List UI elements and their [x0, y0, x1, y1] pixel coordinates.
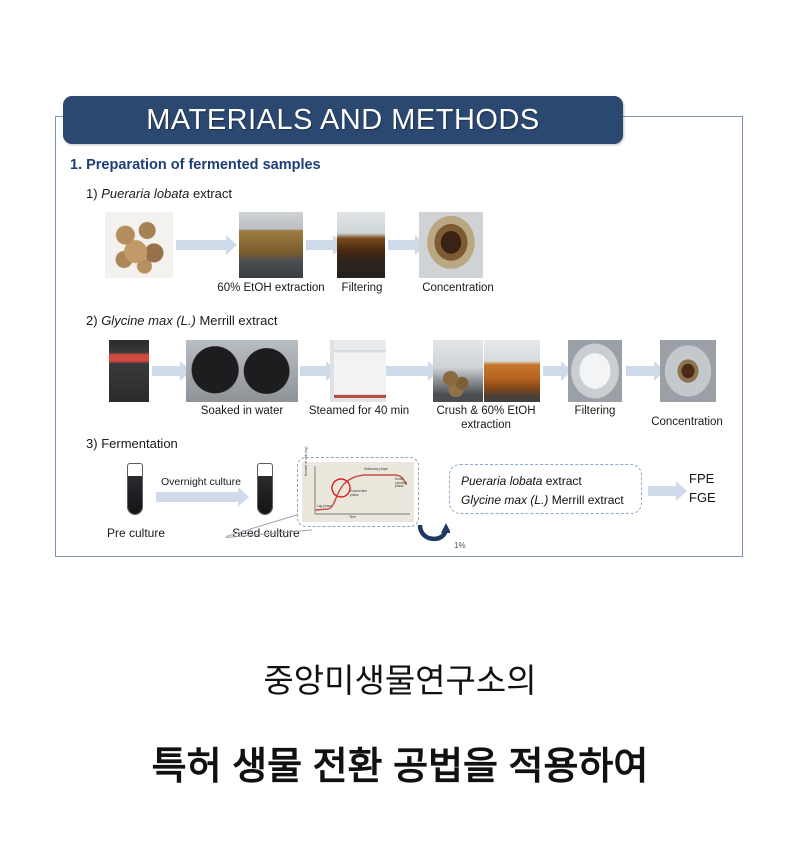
subsection-1-index: 1)	[86, 186, 98, 201]
extract-result-box: Pueraria lobata extract Glycine max (L.)…	[449, 464, 642, 514]
slide-banner: MATERIALS AND METHODS	[63, 96, 623, 144]
product-labels: FPE FGE	[689, 470, 716, 508]
caption-filtering-1: Filtering	[324, 281, 400, 295]
extract-2-italic: Glycine max (L.)	[461, 493, 548, 507]
photo-steamer-autoclave	[330, 340, 386, 402]
flow-arrow-2c	[386, 366, 428, 376]
photo-filtering-funnel	[337, 212, 385, 278]
test-tube-pre-culture	[127, 463, 143, 515]
flow-arrow-1a	[176, 240, 226, 250]
caption-line-2: 특허 생물 전환 공법을 적용하여	[0, 735, 800, 790]
photo-concentration-rotavap	[419, 212, 483, 278]
caption-filtering-2: Filtering	[563, 404, 627, 418]
section-heading: 1. Preparation of fermented samples	[70, 157, 321, 173]
flow-arrow-1c	[388, 240, 415, 250]
growth-curve-xlabel: Time	[349, 516, 356, 520]
product-fpe: FPE	[689, 470, 716, 489]
caption-line-1: 중앙미생물연구소의	[0, 654, 800, 702]
tube-liquid	[258, 476, 272, 514]
flow-arrow-overnight	[156, 492, 238, 502]
subsection-1-title: 1) Pueraria lobata extract	[86, 186, 232, 201]
growth-curve-plot: Number of cells (log) Time Lag phase Exp…	[302, 462, 414, 522]
growth-curve-phase-lag: Lag phase	[317, 505, 332, 509]
growth-curve-phase-death: Death (decline) phase	[395, 478, 409, 489]
test-tube-seed-culture	[257, 463, 273, 515]
caption-crush-etoh: Crush & 60% EtOH extraction	[424, 404, 548, 433]
extract-1-rest: extract	[542, 474, 581, 488]
product-fge: FGE	[689, 489, 716, 508]
photo-pueraria-root-pieces	[105, 212, 173, 278]
photo-crushed-beans-flask	[433, 340, 483, 402]
caption-steamed-40min: Steamed for 40 min	[300, 404, 418, 418]
photo-concentration-rotavap-2	[660, 340, 716, 402]
extract-line-2: Glycine max (L.) Merrill extract	[461, 491, 630, 510]
caption-soaked-in-water: Soaked in water	[186, 404, 298, 418]
subsection-3-rest: Fermentation	[101, 436, 178, 451]
subsection-2-title: 2) Glycine max (L.) Merrill extract	[86, 313, 277, 328]
photo-soaked-beans-dishes	[186, 340, 298, 402]
subsection-2-index: 2)	[86, 313, 98, 328]
growth-curve-phase-stationary: Stationary phase	[364, 468, 388, 472]
growth-curve-ylabel: Number of cells (log)	[305, 436, 309, 476]
flow-arrow-2a	[152, 366, 180, 376]
photo-ethanol-extract-flask	[484, 340, 540, 402]
label-pre-culture: Pre culture	[99, 526, 173, 541]
growth-curve-callout: Number of cells (log) Time Lag phase Exp…	[297, 457, 419, 527]
photo-black-soybean-package	[109, 340, 149, 402]
subsection-1-rest: extract	[189, 186, 232, 201]
label-inoculum-percent: 1%	[454, 541, 466, 550]
tube-liquid	[128, 476, 142, 514]
extract-line-1: Pueraria lobata extract	[461, 472, 630, 491]
extract-1-italic: Pueraria lobata	[461, 474, 542, 488]
extract-2-rest: Merrill extract	[548, 493, 623, 507]
subsection-2-rest: Merrill extract	[196, 313, 278, 328]
flow-arrow-2d	[543, 366, 561, 376]
label-overnight-culture: Overnight culture	[150, 476, 252, 489]
subsection-1-italic: Pueraria lobata	[101, 186, 189, 201]
flow-arrow-products	[648, 486, 676, 496]
caption-concentration-1: Concentration	[404, 281, 512, 295]
photo-ethanol-extraction-jar	[239, 212, 303, 278]
photo-filtering-funnel-2	[568, 340, 622, 402]
subsection-2-italic: Glycine max (L.)	[101, 313, 196, 328]
growth-curve-phase-exponential: Exponential phase	[350, 490, 372, 497]
subsection-3-index: 3)	[86, 436, 98, 451]
flow-arrow-1b	[306, 240, 333, 250]
flow-arrow-2b	[300, 366, 326, 376]
recycle-arrow-icon	[416, 523, 450, 549]
flow-arrow-2e	[626, 366, 654, 376]
banner-title: MATERIALS AND METHODS	[146, 104, 539, 137]
caption-concentration-2: Concentration	[633, 415, 741, 429]
subsection-3-title: 3) Fermentation	[86, 436, 178, 451]
